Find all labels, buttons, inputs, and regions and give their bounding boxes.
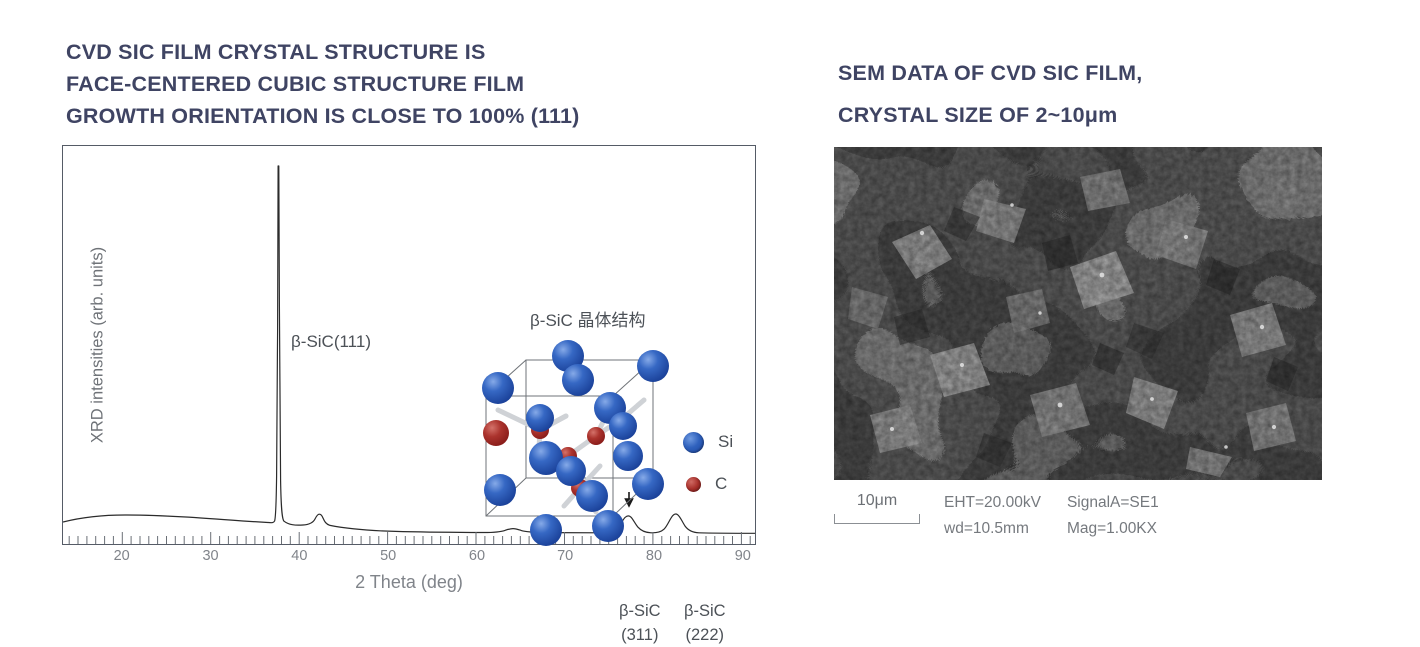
sem-metadata-column-1: EHT=20.00kV wd=10.5mm <box>944 490 1041 542</box>
sem-meta-signal: SignalA=SE1 <box>1067 490 1159 516</box>
crystal-structure-inset: β-SiC 晶体结构 <box>468 306 768 566</box>
x-tick-label-70: 70 <box>557 548 573 564</box>
zincblende-unit-cell-diagram <box>468 338 683 553</box>
x-tick-label-20: 20 <box>114 548 130 564</box>
crystal-structure-title: β-SiC 晶体结构 <box>530 306 646 331</box>
si-atom-icon <box>683 432 704 453</box>
x-tick-label-80: 80 <box>646 548 662 564</box>
sem-metadata-columns: EHT=20.00kV wd=10.5mm SignalA=SE1 Mag=1.… <box>944 490 1159 542</box>
sem-meta-mag: Mag=1.00KX <box>1067 516 1159 542</box>
silicon-atoms <box>482 340 669 546</box>
x-axis-label: 2 Theta (deg) <box>62 572 756 593</box>
peak-label-sic-311-line2: (311) <box>619 623 661 647</box>
crystal-structure-legend: Si C <box>683 421 733 505</box>
right-heading-line-1: SEM DATA OF CVD SIC FILM, <box>838 52 1358 94</box>
xrd-plot-area: β-SiC(111) β-SiC (311) β-SiC (222) β-SiC… <box>62 145 756 545</box>
x-tick-label-40: 40 <box>291 548 307 564</box>
x-tick-label-60: 60 <box>469 548 485 564</box>
legend-label-si: Si <box>718 432 733 452</box>
sem-scalebar: 10μm <box>834 492 920 524</box>
right-heading-line-2: CRYSTAL SIZE OF 2~10μm <box>838 94 1358 136</box>
legend-item-si: Si <box>683 421 733 463</box>
xrd-figure: β-SiC(111) β-SiC (311) β-SiC (222) β-SiC… <box>0 0 790 614</box>
sem-scalebar-line <box>834 514 920 524</box>
right-panel-heading: SEM DATA OF CVD SIC FILM, CRYSTAL SIZE O… <box>838 52 1358 136</box>
y-axis-label: XRD intensities (arb. units) <box>89 247 108 443</box>
peak-label-sic-222-line2: (222) <box>684 623 726 647</box>
sem-meta-eht: EHT=20.00kV <box>944 490 1041 516</box>
sem-scalebar-label: 10μm <box>834 492 920 510</box>
sem-metadata-column-2: SignalA=SE1 Mag=1.00KX <box>1067 490 1159 542</box>
x-axis-tick-labels: 20 30 40 50 60 70 80 90 <box>62 548 756 570</box>
x-tick-label-30: 30 <box>202 548 218 564</box>
sem-panel: SEM DATA OF CVD SIC FILM, CRYSTAL SIZE O… <box>790 0 1420 614</box>
x-tick-label-50: 50 <box>380 548 396 564</box>
legend-label-c: C <box>715 474 727 494</box>
legend-item-c: C <box>683 463 733 505</box>
peak-label-sic-311: β-SiC (311) <box>619 599 661 647</box>
peak-label-sic-111: β-SiC(111) <box>291 332 371 352</box>
peak-label-sic-222: β-SiC (222) <box>684 599 726 647</box>
peak-label-sic-311-line1: β-SiC <box>619 599 661 623</box>
sem-micrograph-render <box>834 147 1322 480</box>
peak-label-sic-222-line1: β-SiC <box>684 599 726 623</box>
sem-meta-wd: wd=10.5mm <box>944 516 1041 542</box>
xrd-panel: CVD SIC FILM CRYSTAL STRUCTURE IS FACE-C… <box>0 0 790 614</box>
x-tick-label-90: 90 <box>735 548 751 564</box>
c-atom-icon <box>686 477 701 492</box>
sem-micrograph <box>834 147 1322 480</box>
